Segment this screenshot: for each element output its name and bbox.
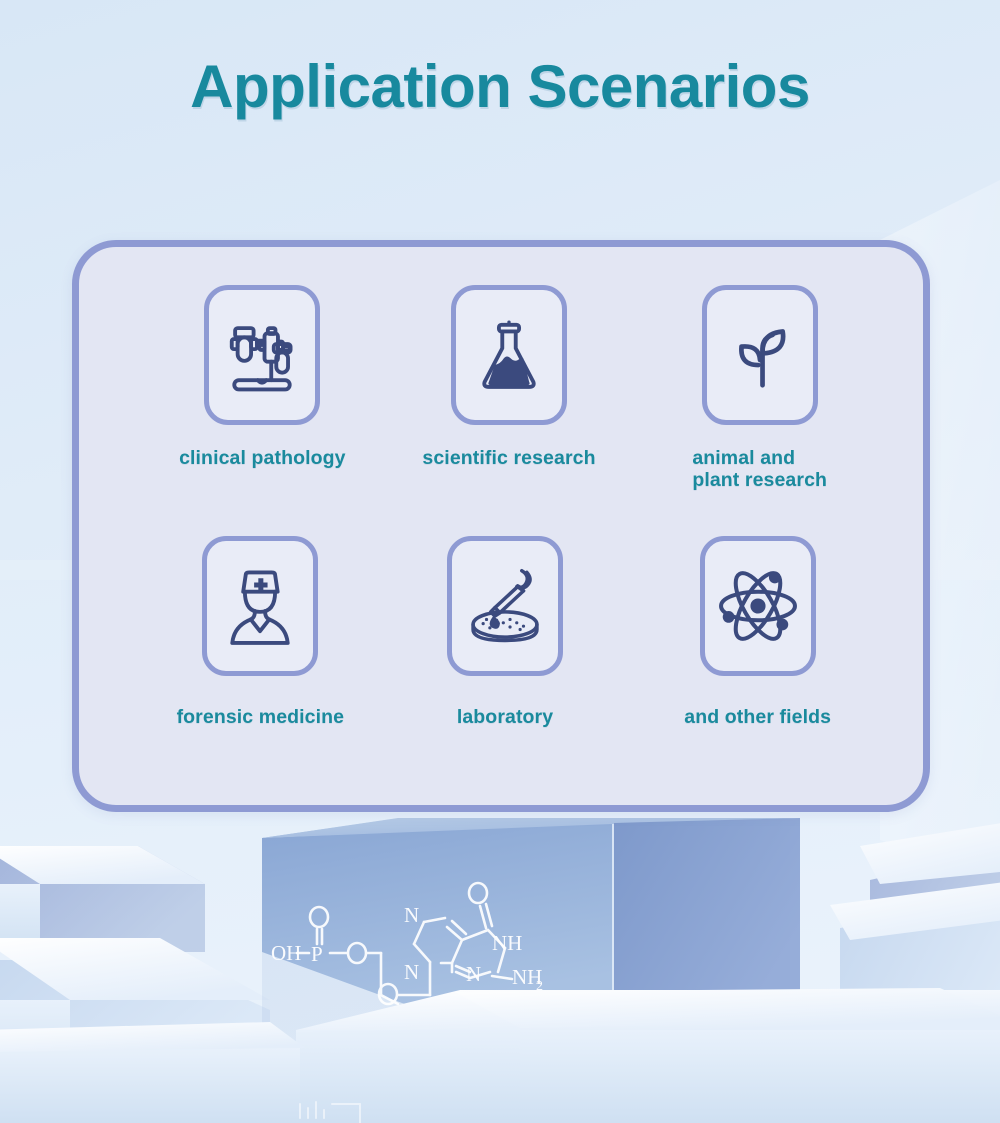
scenario-cell-other-fields[interactable]: and other fields bbox=[632, 536, 883, 779]
icon-tile-forensic-medicine[interactable] bbox=[202, 536, 318, 676]
icon-tile-laboratory[interactable] bbox=[447, 536, 563, 676]
tile-label: laboratory bbox=[457, 706, 553, 728]
atom-label-oh: OH bbox=[271, 941, 301, 965]
atom-label-nh: NH bbox=[492, 931, 522, 955]
page-title: Application Scenarios bbox=[0, 52, 1000, 121]
icon-tile-animal-plant-research[interactable] bbox=[702, 285, 818, 425]
atom-label-p: P bbox=[311, 942, 323, 966]
application-scenarios-panel: clinical pathology scientific research bbox=[72, 240, 930, 812]
sprout-plant-icon bbox=[718, 313, 802, 397]
erlenmeyer-flask-icon bbox=[467, 313, 551, 397]
scenario-cell-animal-plant-research[interactable]: animal and plant research bbox=[634, 285, 885, 528]
podium-slab-bottom-left bbox=[0, 1022, 305, 1123]
scenario-cell-laboratory[interactable]: laboratory bbox=[380, 536, 631, 779]
icon-tile-clinical-pathology[interactable] bbox=[204, 285, 320, 425]
atom-icon bbox=[716, 564, 800, 648]
scenario-grid: clinical pathology scientific research bbox=[79, 247, 923, 805]
tile-label: scientific research bbox=[422, 447, 595, 469]
tile-label: clinical pathology bbox=[179, 447, 346, 469]
scenario-cell-clinical-pathology[interactable]: clinical pathology bbox=[137, 285, 388, 528]
icon-tile-other-fields[interactable] bbox=[700, 536, 816, 676]
scenario-cell-scientific-research[interactable]: scientific research bbox=[384, 285, 635, 528]
scenario-row-2: forensic medicine bbox=[125, 536, 877, 779]
tile-label: animal and plant research bbox=[692, 447, 827, 491]
atom-label-n1: N bbox=[404, 903, 419, 927]
scenario-cell-forensic-medicine[interactable]: forensic medicine bbox=[135, 536, 386, 779]
scenario-row-1: clinical pathology scientific research bbox=[125, 285, 877, 528]
tile-label: and other fields bbox=[684, 706, 831, 728]
test-tube-rack-icon bbox=[220, 313, 304, 397]
medical-worker-icon bbox=[218, 564, 302, 648]
icon-tile-scientific-research[interactable] bbox=[451, 285, 567, 425]
atom-label-n3: N bbox=[466, 962, 481, 986]
pipette-petri-dish-icon bbox=[463, 564, 547, 648]
atom-label-n2: N bbox=[404, 960, 419, 984]
tile-label: forensic medicine bbox=[177, 706, 345, 728]
podium-slab-center-front bbox=[296, 988, 1000, 1123]
header: Application Scenarios bbox=[0, 52, 1000, 121]
